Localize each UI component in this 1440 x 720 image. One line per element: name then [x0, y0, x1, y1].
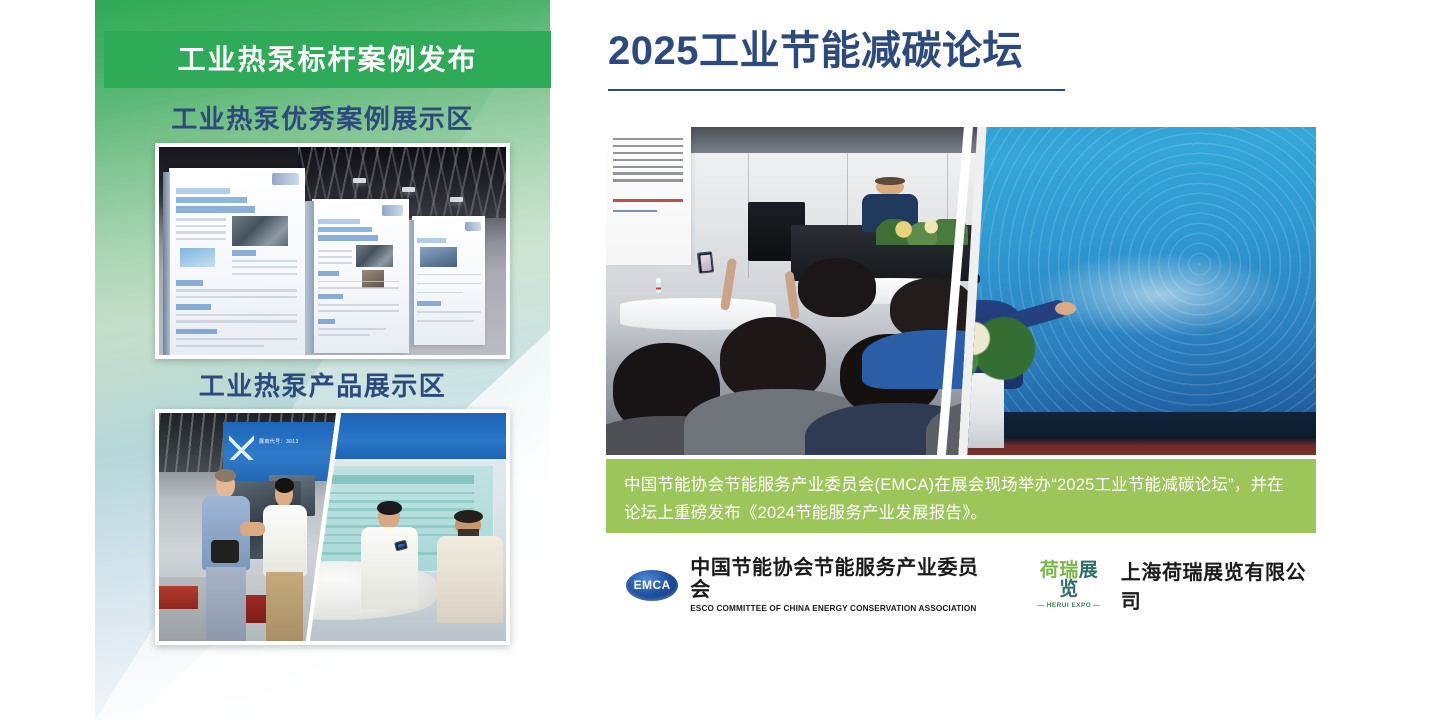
- emca-name-cn: 中国节能协会节能服务产业委员会: [690, 557, 989, 601]
- left-section-1-title: 工业热泵优秀案例展示区: [95, 99, 550, 136]
- person-visitor: [201, 472, 251, 641]
- water-bottle: [656, 278, 661, 293]
- logo-emca: EMCA 中国节能协会节能服务产业委员会 ESCO COMMITTEE OF C…: [626, 557, 989, 613]
- handshake-icon: [240, 522, 265, 536]
- photo-product-zone-inner: 广东美的新能源科技有限公司 Guangdong Macon New Energy…: [159, 413, 506, 641]
- herui-mark-icon: 荷瑞展览 — HERUI EXPO —: [1031, 561, 1106, 609]
- left-green-banner: 工业热泵标杆案例发布: [104, 31, 551, 88]
- phone-icon: [697, 251, 714, 273]
- side-document-panel: [606, 127, 691, 265]
- left-section-2-title: 工业热泵产品展示区: [95, 366, 550, 403]
- emca-mark-text: EMCA: [634, 578, 671, 592]
- left-banner-label: 工业热泵标杆案例发布: [177, 46, 477, 74]
- herui-mark-green: 荷瑞: [1040, 560, 1079, 581]
- herui-mark-en: — HERUI EXPO —: [1031, 602, 1106, 609]
- title-underline: [608, 89, 1065, 91]
- right-column: 2025工业节能减碳论坛: [600, 0, 1330, 720]
- page-title: 2025工业节能减碳论坛: [608, 28, 1023, 74]
- spot-lamp-icon: [450, 197, 463, 202]
- photo-poster-zone: [155, 143, 510, 359]
- herui-company-name: 上海荷瑞展览有限公司: [1121, 556, 1320, 614]
- poster-board: [312, 199, 409, 353]
- emca-mark-icon: EMCA: [626, 570, 678, 601]
- person-seated-left: [360, 504, 419, 609]
- caption-box: 中国节能协会节能服务产业委员会(EMCA)在展会现场举办“2025工业节能减碳论…: [606, 459, 1316, 533]
- photo-poster-zone-inner: [159, 147, 506, 355]
- poster-board: [412, 216, 485, 345]
- spot-lamp-icon: [402, 187, 415, 192]
- caption-text: 中国节能协会节能服务产业委员会(EMCA)在展会现场举办“2025工业节能减碳论…: [624, 471, 1298, 528]
- booth-code-label: 展商代号：3013: [259, 438, 299, 445]
- photo-handshake: 展商代号：3013 MACON: [159, 413, 336, 641]
- slide-root: 工业热泵标杆案例发布 工业热泵优秀案例展示区: [0, 0, 1440, 720]
- logo-row: EMCA 中国节能协会节能服务产业委员会 ESCO COMMITTEE OF C…: [620, 558, 1320, 612]
- person-seated-right: [437, 513, 503, 622]
- photo-product-zone: 广东美的新能源科技有限公司 Guangdong Macon New Energy…: [155, 409, 510, 645]
- left-column: 工业热泵标杆案例发布 工业热泵优秀案例展示区: [95, 0, 550, 720]
- spot-lamp-icon: [353, 178, 366, 183]
- person-staff: [262, 481, 308, 641]
- emca-text-block: 中国节能协会节能服务产业委员会 ESCO COMMITTEE OF CHINA …: [690, 557, 989, 613]
- photo-collage: 节能服务产业发展报告 （2024年） 孙小亮 中国节能协会 副理事长 中国节能协…: [606, 127, 1316, 455]
- audience-head: [798, 258, 876, 317]
- logo-herui: 荷瑞展览 — HERUI EXPO — 上海荷瑞展览有限公司: [1031, 556, 1320, 614]
- emca-name-en: ESCO COMMITTEE OF CHINA ENERGY CONSERVAT…: [690, 604, 989, 613]
- poster-board: [169, 168, 304, 355]
